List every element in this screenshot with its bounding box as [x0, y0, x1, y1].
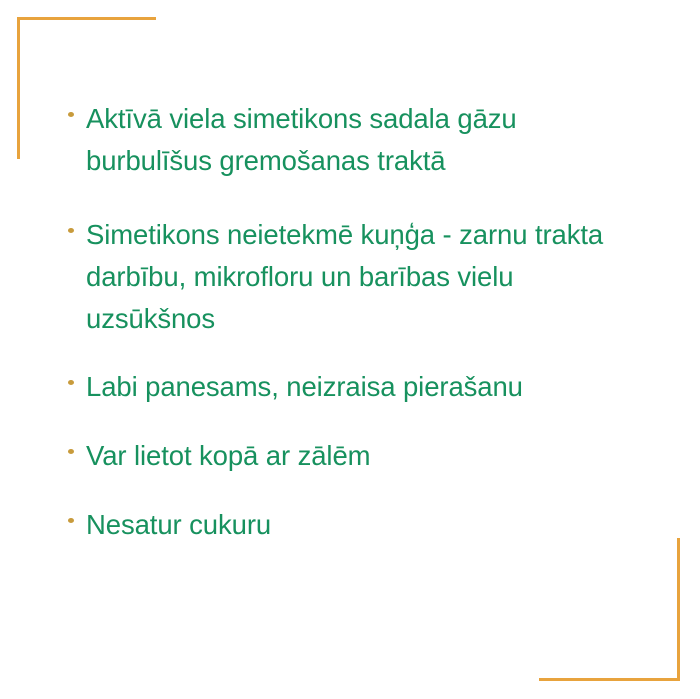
slide-canvas: Aktīvā viela simetikons sadala gāzu burb… [0, 0, 700, 699]
list-item-label: Labi panesams, neizraisa pierašanu [86, 366, 646, 408]
bullet-dot-icon [68, 435, 86, 454]
bullet-list: Aktīvā viela simetikons sadala gāzu burb… [68, 98, 648, 546]
list-item-label: Nesatur cukuru [86, 504, 646, 546]
list-item-label: Aktīvā viela simetikons sadala gāzu burb… [86, 98, 598, 182]
bullet-dot-icon [68, 504, 86, 523]
list-item: Var lietot kopā ar zālēm [68, 435, 648, 477]
list-item: Nesatur cukuru [68, 504, 648, 546]
list-item: Simetikons neietekmē kuņģa - zarnu trakt… [68, 214, 648, 340]
list-item: Aktīvā viela simetikons sadala gāzu burb… [68, 98, 648, 182]
bullet-dot-icon [68, 98, 86, 117]
bullet-dot-icon [68, 366, 86, 385]
list-item: Labi panesams, neizraisa pierašanu [68, 366, 648, 408]
corner-bracket-bottom-right-icon [539, 538, 680, 681]
bullet-dot-icon [68, 214, 86, 233]
list-item-label: Simetikons neietekmē kuņģa - zarnu trakt… [86, 214, 622, 340]
list-item-label: Var lietot kopā ar zālēm [86, 435, 646, 477]
